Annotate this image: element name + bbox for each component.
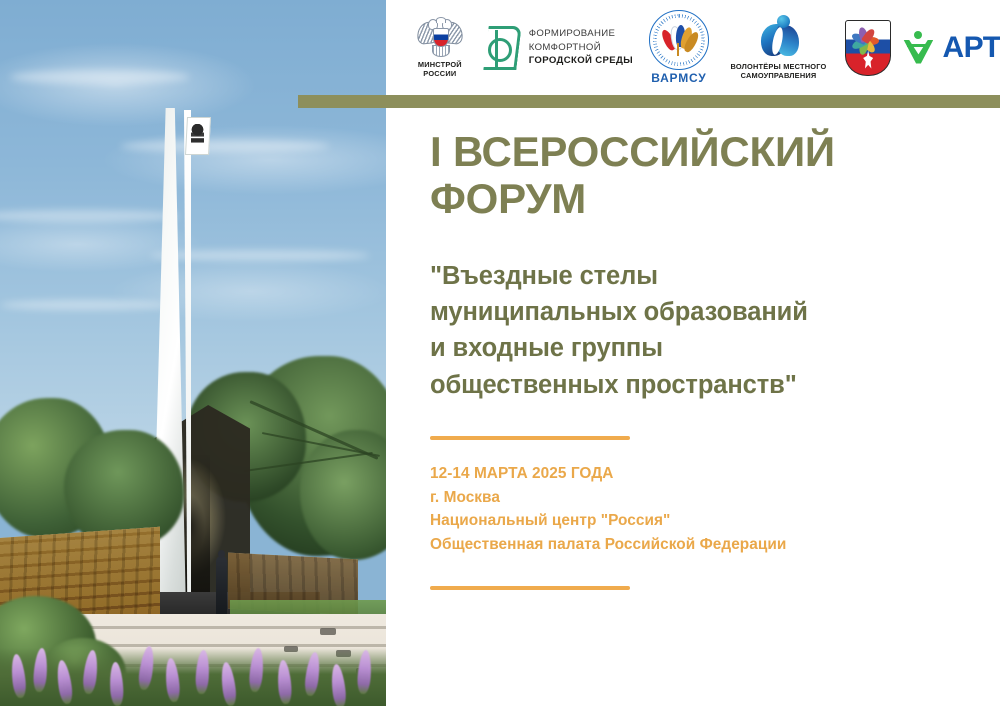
circular-tricolor-leaf-emblem-icon [649, 10, 709, 70]
double-headed-eagle-icon [417, 17, 463, 57]
logo-formirovanie: ФОРМИРОВАНИЕ КОМФОРТНОЙ ГОРОДСКОЙ СРЕДЫ [482, 24, 633, 72]
event-date: 12-14 МАРТА 2025 ГОДА [430, 462, 990, 486]
cloud-streak [120, 140, 330, 152]
title-line-2: ФОРУМ [430, 175, 586, 222]
partner-logo-strip: МИНСТРОЙ РОССИИ ФОРМИРОВАНИЕ КОМФОРТНОЙ … [386, 0, 1000, 95]
logo-formirovanie-line2: КОМФОРТНОЙ [529, 41, 633, 55]
event-venue-1: Национальный центр "Россия" [430, 509, 990, 533]
event-details: 12-14 МАРТА 2025 ГОДА г. Москва Национал… [430, 462, 990, 557]
logo-minstroy: МИНСТРОЙ РОССИИ [398, 17, 482, 79]
green-person-a-icon [903, 31, 933, 65]
logo-volunteers-caption: ВОЛОНТЁРЫ МЕСТНОГО САМОУПРАВЛЕНИЯ [731, 62, 827, 81]
shield-coat-of-arms-icon [845, 20, 891, 76]
orange-divider-bottom [430, 586, 630, 590]
event-city: г. Москва [430, 486, 990, 510]
poster-content: I ВСЕРОССИЙСКИЙ ФОРУМ "Въездные стелы му… [430, 128, 990, 590]
orange-divider-top [430, 436, 630, 440]
subtitle-line-1: "Въездные стелы [430, 258, 990, 294]
green-house-keyhole-icon [482, 24, 522, 72]
subtitle-line-2: муниципальных образований [430, 294, 990, 330]
title-line-1: I ВСЕРОССИЙСКИЙ [430, 128, 835, 175]
blue-swoosh-figure-icon [756, 15, 802, 59]
logo-coat-of-arms [832, 20, 904, 76]
stela-emblem-icon [191, 124, 204, 144]
logo-art-wordmark: АРТ [942, 33, 1000, 63]
subtitle-line-3: и входные группы [430, 330, 990, 366]
logo-minstroy-caption: МИНСТРОЙ РОССИИ [418, 60, 462, 79]
event-venue-2: Общественная палата Российской Федерации [430, 533, 990, 557]
logo-varmsu-caption: ВАРМСУ [651, 71, 706, 85]
person-head [218, 550, 225, 558]
logo-formirovanie-line3: ГОРОДСКОЙ СРЕДЫ [529, 54, 633, 68]
cloud-streak [10, 70, 190, 84]
logo-volunteers: ВОЛОНТЁРЫ МЕСТНОГО САМОУПРАВЛЕНИЯ [725, 15, 833, 81]
subtitle-line-4: общественных пространств" [430, 367, 990, 403]
person-silhouette [216, 556, 227, 618]
cloud-streak [0, 300, 170, 310]
page-title: I ВСЕРОССИЙСКИЙ ФОРУМ [430, 128, 990, 222]
logo-art: АРТ [904, 31, 1000, 65]
logo-formirovanie-line1: ФОРМИРОВАНИЕ [529, 27, 633, 41]
logo-varmsu: ВАРМСУ [633, 10, 725, 85]
event-poster: МИНСТРОЙ РОССИИ ФОРМИРОВАНИЕ КОМФОРТНОЙ … [0, 0, 1000, 706]
olive-divider-bar [298, 95, 1000, 108]
cloud-streak [150, 250, 370, 261]
step-stone-block [320, 628, 336, 635]
forum-subtitle: "Въездные стелы муниципальных образовани… [430, 258, 990, 403]
